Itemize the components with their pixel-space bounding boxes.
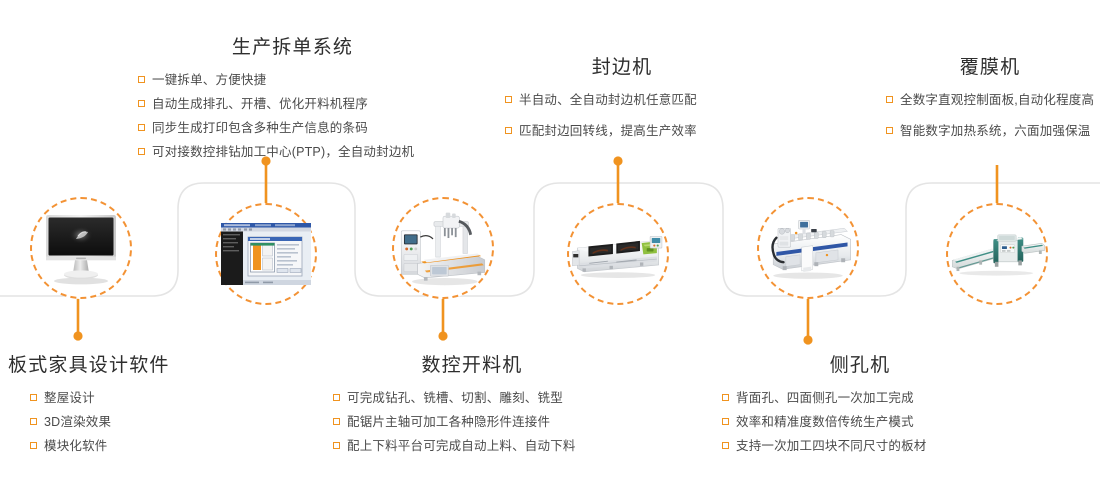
bullet-square-icon [333, 442, 340, 449]
list-item-label: 匹配封边回转线，提高生产效率 [519, 122, 697, 140]
bullet-list: 全数字直观控制面板,自动化程度高 智能数字加热系统，六面加强保温 [880, 91, 1100, 140]
list-item-label: 整屋设计 [44, 389, 95, 407]
bullet-square-icon [886, 127, 893, 134]
bullet-square-icon [138, 124, 145, 131]
list-item: 同步生成打印包含多种生产信息的条码 [138, 119, 465, 137]
block-title: 覆膜机 [880, 58, 1100, 79]
bullet-list: 背面孔、四面侧孔一次加工完成 效率和精准度数倍传统生产模式 支持一次加工四块不同… [710, 389, 1010, 455]
node-laminator[interactable] [946, 203, 1048, 305]
list-item: 整屋设计 [30, 389, 218, 407]
bullet-square-icon [138, 148, 145, 155]
list-item-label: 一键拆单、方便快捷 [152, 71, 266, 89]
software-screen-icon [217, 205, 315, 303]
list-item-label: 配锯片主轴可加工各种隐形件连接件 [347, 413, 550, 431]
bullet-square-icon [333, 418, 340, 425]
list-item: 3D渲染效果 [30, 413, 218, 431]
block-title: 板式家具设计软件 [8, 356, 218, 377]
bullet-square-icon [138, 100, 145, 107]
block-title: 数控开料机 [327, 356, 617, 377]
bullet-square-icon [138, 76, 145, 83]
list-item: 自动生成排孔、开槽、优化开料机程序 [138, 95, 465, 113]
list-item: 可对接数控排钻加工中心(PTP)，全自动封边机 [138, 143, 465, 161]
list-item: 可完成钻孔、铣槽、切割、雕刻、铣型 [333, 389, 617, 407]
bullet-list: 整屋设计 3D渲染效果 模块化软件 [8, 389, 218, 455]
list-item-label: 可完成钻孔、铣槽、切割、雕刻、铣型 [347, 389, 563, 407]
text-block-order-splitting-system: 生产拆单系统 一键拆单、方便快捷 自动生成排孔、开槽、优化开料机程序 同步生成打… [120, 38, 465, 161]
list-item: 半自动、全自动封边机任意匹配 [505, 91, 747, 109]
node-monitor[interactable] [30, 197, 132, 299]
node-software-ui[interactable] [215, 203, 317, 305]
list-item-label: 支持一次加工四块不同尺寸的板材 [736, 437, 927, 455]
text-block-side-hole-drilling-machine: 侧孔机 背面孔、四面侧孔一次加工完成 效率和精准度数倍传统生产模式 支持一次加工… [710, 356, 1010, 455]
bullet-square-icon [30, 442, 37, 449]
list-item-label: 智能数字加热系统，六面加强保温 [900, 122, 1091, 140]
cnc-router-machine-icon [394, 199, 492, 297]
bullet-list: 半自动、全自动封边机任意匹配 匹配封边回转线，提高生产效率 [497, 91, 747, 140]
bullet-square-icon [505, 96, 512, 103]
side-drilling-machine-icon [759, 199, 857, 297]
list-item-label: 可对接数控排钻加工中心(PTP)，全自动封边机 [152, 143, 414, 161]
text-block-cnc-cutting-machine: 数控开料机 可完成钻孔、铣槽、切割、雕刻、铣型 配锯片主轴可加工各种隐形件连接件… [327, 356, 617, 455]
bullet-square-icon [30, 394, 37, 401]
list-item-label: 3D渲染效果 [44, 413, 111, 431]
bullet-square-icon [722, 442, 729, 449]
list-item-label: 效率和精准度数倍传统生产模式 [736, 413, 914, 431]
list-item: 支持一次加工四块不同尺寸的板材 [722, 437, 1010, 455]
list-item: 配锯片主轴可加工各种隐形件连接件 [333, 413, 617, 431]
list-item: 配上下料平台可完成自动上料、自动下料 [333, 437, 617, 455]
node-side-driller[interactable] [757, 197, 859, 299]
bullet-square-icon [505, 127, 512, 134]
list-item-label: 半自动、全自动封边机任意匹配 [519, 91, 697, 109]
bullet-list: 一键拆单、方便快捷 自动生成排孔、开槽、优化开料机程序 同步生成打印包含多种生产… [120, 71, 465, 162]
bullet-square-icon [333, 394, 340, 401]
text-block-design-software: 板式家具设计软件 整屋设计 3D渲染效果 模块化软件 [8, 356, 218, 455]
infographic-stage: 板式家具设计软件 整屋设计 3D渲染效果 模块化软件 生产拆单系统 一键拆单、方… [0, 0, 1100, 495]
list-item: 一键拆单、方便快捷 [138, 71, 465, 89]
list-item-label: 同步生成打印包含多种生产信息的条码 [152, 119, 368, 137]
list-item: 效率和精准度数倍传统生产模式 [722, 413, 1010, 431]
desktop-monitor-icon [32, 199, 130, 297]
block-title: 封边机 [497, 58, 747, 79]
list-item-label: 模块化软件 [44, 437, 108, 455]
list-item: 全数字直观控制面板,自动化程度高 [886, 91, 1100, 109]
list-item-label: 配上下料平台可完成自动上料、自动下料 [347, 437, 576, 455]
edge-banding-machine-icon [569, 205, 667, 303]
text-block-edge-banding-machine: 封边机 半自动、全自动封边机任意匹配 匹配封边回转线，提高生产效率 [497, 58, 747, 153]
list-item: 智能数字加热系统，六面加强保温 [886, 122, 1100, 140]
block-title: 生产拆单系统 [120, 38, 465, 59]
bullet-list: 可完成钻孔、铣槽、切割、雕刻、铣型 配锯片主轴可加工各种隐形件连接件 配上下料平… [327, 389, 617, 455]
text-block-laminating-machine: 覆膜机 全数字直观控制面板,自动化程度高 智能数字加热系统，六面加强保温 [880, 58, 1100, 153]
list-item-label: 背面孔、四面侧孔一次加工完成 [736, 389, 914, 407]
list-item: 模块化软件 [30, 437, 218, 455]
list-item: 背面孔、四面侧孔一次加工完成 [722, 389, 1010, 407]
bullet-square-icon [30, 418, 37, 425]
list-item: 匹配封边回转线，提高生产效率 [505, 122, 747, 140]
list-item-label: 全数字直观控制面板,自动化程度高 [900, 91, 1094, 109]
bullet-square-icon [722, 394, 729, 401]
laminating-machine-icon [948, 205, 1046, 303]
bullet-square-icon [722, 418, 729, 425]
node-edge-bander[interactable] [567, 203, 669, 305]
bullet-square-icon [886, 96, 893, 103]
block-title: 侧孔机 [710, 356, 1010, 377]
list-item-label: 自动生成排孔、开槽、优化开料机程序 [152, 95, 368, 113]
node-cnc-router[interactable] [392, 197, 494, 299]
